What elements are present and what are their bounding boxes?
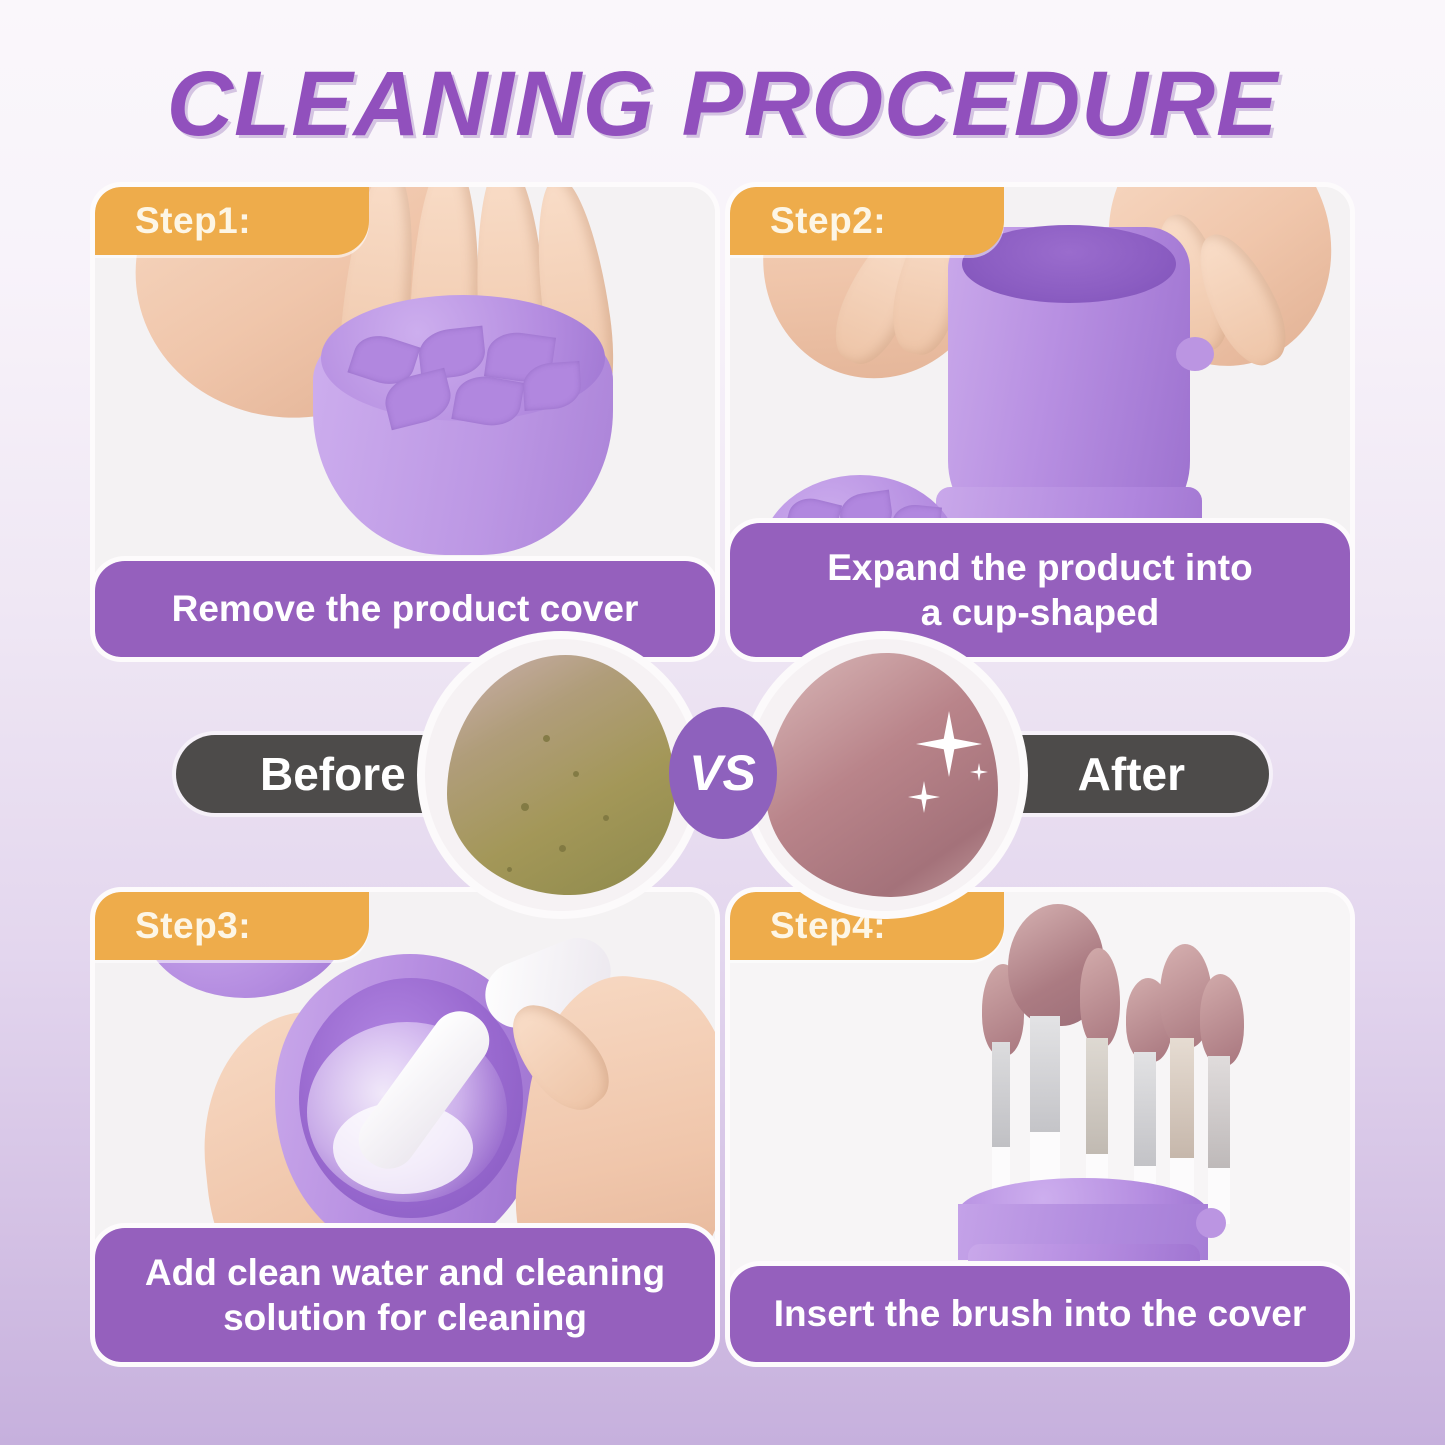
before-after-comparison: Before After VS <box>0 735 1445 825</box>
before-photo <box>425 639 697 911</box>
step-2-caption: Expand the product into a cup-shaped <box>730 523 1350 657</box>
step-3-caption-line-1: Add clean water and cleaning <box>145 1250 665 1295</box>
step-3-caption: Add clean water and cleaning solution fo… <box>95 1228 715 1362</box>
page-title: CLEANING PROCEDURE <box>0 52 1445 157</box>
step-2-caption-line-2: a cup-shaped <box>827 590 1252 635</box>
step-1-badge: Step1: <box>95 187 369 255</box>
step-2-badge: Step2: <box>730 187 1004 255</box>
step-card-2: Step2: Expand the product into a cup-sha… <box>730 187 1350 657</box>
step-4-caption: Insert the brush into the cover <box>730 1266 1350 1362</box>
step-2-caption-line-1: Expand the product into <box>827 545 1252 590</box>
step-4-caption-line-1: Insert the brush into the cover <box>774 1291 1306 1336</box>
step-card-4: Step4: Insert the brush into the cover <box>730 892 1350 1362</box>
after-photo <box>748 639 1020 911</box>
step-3-caption-line-2: solution for cleaning <box>145 1295 665 1340</box>
step-card-3: Step3: Add clean water and cleaning solu… <box>95 892 715 1362</box>
step-1-caption: Remove the product cover <box>95 561 715 657</box>
step-card-1: Step1: Remove the product cover <box>95 187 715 657</box>
step-3-badge: Step3: <box>95 892 369 960</box>
step-1-caption-line-1: Remove the product cover <box>172 586 639 631</box>
vs-badge: VS <box>669 707 777 839</box>
